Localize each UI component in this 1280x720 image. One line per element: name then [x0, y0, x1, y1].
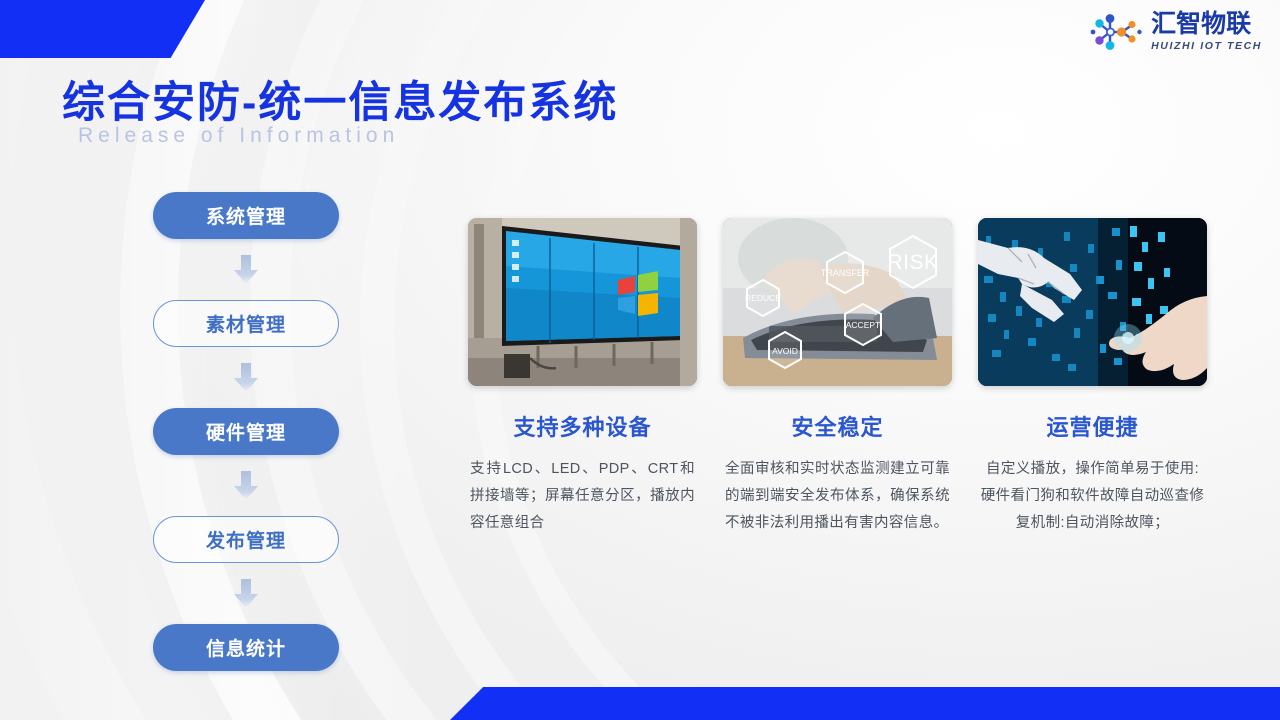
- bottom-right-accent-bar: [450, 687, 1280, 720]
- top-left-accent-bar: [0, 0, 205, 58]
- arrow-down-icon: [233, 471, 259, 501]
- page-title: 综合安防-统一信息发布系统: [62, 68, 618, 130]
- feature-card-security: RISK TRANSFER REDUCE ACCEPT AVOID 安全稳定 全…: [723, 218, 952, 536]
- slide-root: 汇智物联 HUIZHI IOT TECH 综合安防-统一信息发布系统 Relea…: [0, 0, 1280, 720]
- flow-step-material-management[interactable]: 素材管理: [153, 300, 339, 347]
- robot-human-hand-photo: [978, 218, 1207, 386]
- flow-step-label: 系统管理: [206, 202, 286, 229]
- logo-company-name-en: HUIZHI IOT TECH: [1151, 41, 1262, 52]
- feature-card-title: 运营便捷: [978, 410, 1207, 442]
- feature-card-title: 支持多种设备: [468, 410, 697, 442]
- logo-company-name: 汇智物联: [1151, 12, 1262, 37]
- flow-arrow-2: [233, 347, 259, 408]
- page-subtitle: Release of Information: [78, 124, 399, 148]
- feature-cards: 支持多种设备 支持LCD、LED、PDP、CRT和拼接墙等；屏幕任意分区，播放内…: [468, 218, 1208, 536]
- flow-step-hardware-management[interactable]: 硬件管理: [153, 408, 339, 455]
- video-wall-photo: [468, 218, 697, 386]
- feature-card-devices: 支持多种设备 支持LCD、LED、PDP、CRT和拼接墙等；屏幕任意分区，播放内…: [468, 218, 697, 536]
- process-flow: 系统管理 素材管理 硬件管理: [153, 192, 339, 671]
- flow-step-label: 信息统计: [206, 634, 286, 661]
- company-logo: 汇智物联 HUIZHI IOT TECH: [1088, 12, 1262, 52]
- flow-arrow-1: [233, 239, 259, 300]
- arrow-down-icon: [233, 363, 259, 393]
- flow-step-label: 发布管理: [206, 526, 286, 553]
- feature-card-description: 全面审核和实时状态监测建立可靠的端到端安全发布体系，确保系统不被非法利用播出有害…: [723, 456, 952, 536]
- flow-arrow-4: [233, 563, 259, 624]
- flow-step-label: 素材管理: [206, 310, 286, 337]
- arrow-down-icon: [233, 579, 259, 609]
- flow-step-info-statistics[interactable]: 信息统计: [153, 624, 339, 671]
- risk-management-photo: RISK TRANSFER REDUCE ACCEPT AVOID: [723, 218, 952, 386]
- flow-step-system-management[interactable]: 系统管理: [153, 192, 339, 239]
- flow-step-label: 硬件管理: [206, 418, 286, 445]
- arrow-down-icon: [233, 255, 259, 285]
- flow-arrow-3: [233, 455, 259, 516]
- molecule-network-icon: [1088, 12, 1144, 52]
- feature-card-operation: 运营便捷 自定义播放，操作简单易于使用:硬件看门狗和软件故障自动巡查修复机制:自…: [978, 218, 1207, 536]
- feature-card-description: 自定义播放，操作简单易于使用:硬件看门狗和软件故障自动巡查修复机制:自动消除故障…: [978, 456, 1207, 536]
- flow-step-publish-management[interactable]: 发布管理: [153, 516, 339, 563]
- feature-card-description: 支持LCD、LED、PDP、CRT和拼接墙等；屏幕任意分区，播放内容任意组合: [468, 456, 697, 536]
- feature-card-title: 安全稳定: [723, 410, 952, 442]
